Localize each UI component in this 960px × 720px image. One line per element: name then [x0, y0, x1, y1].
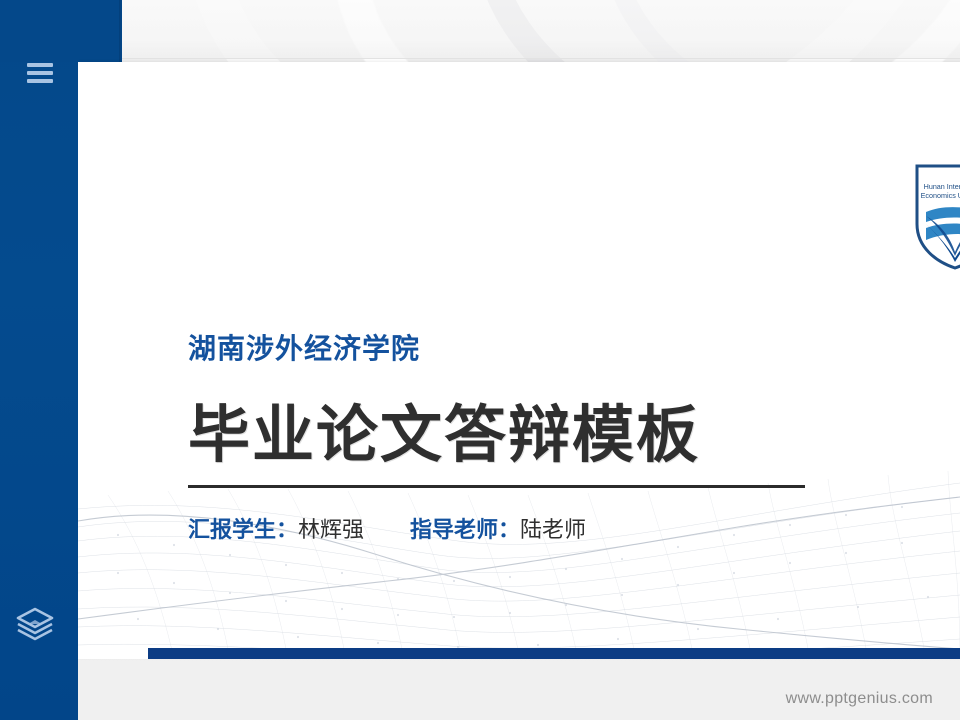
student-name: 林辉强 [298, 517, 364, 542]
left-rail-edge-shadow [119, 0, 122, 62]
advisor-name: 陆老师 [520, 517, 586, 542]
university-logo: Hunan International Economics University [909, 162, 960, 272]
title-divider-rule [188, 485, 805, 488]
footer-website-url: www.pptgenius.com [786, 690, 933, 708]
advisor-label: 指导老师： [410, 517, 520, 542]
logo-text-line2: Economics University [921, 191, 960, 200]
layers-icon[interactable] [13, 602, 57, 646]
slide-bottom-bar [148, 648, 960, 659]
slide-subtitle: 湖南涉外经济学院 [188, 327, 420, 367]
slide-canvas: Hunan International Economics University… [78, 62, 960, 659]
logo-text-line1: Hunan International [924, 182, 960, 191]
background-top-band [0, 0, 960, 58]
left-rail-top-extension [0, 0, 122, 62]
background-top-divider [0, 58, 960, 59]
slide-meta-line: 汇报学生：林辉强指导老师：陆老师 [188, 512, 586, 544]
hamburger-bar-3 [27, 79, 53, 83]
slide-title: 毕业论文答辩模板 [188, 384, 700, 474]
hamburger-menu-icon[interactable] [27, 63, 53, 83]
hamburger-bar-2 [27, 71, 53, 75]
student-label: 汇报学生： [188, 517, 298, 542]
wireframe-mesh-decoration [78, 469, 960, 659]
hamburger-bar-1 [27, 63, 53, 67]
